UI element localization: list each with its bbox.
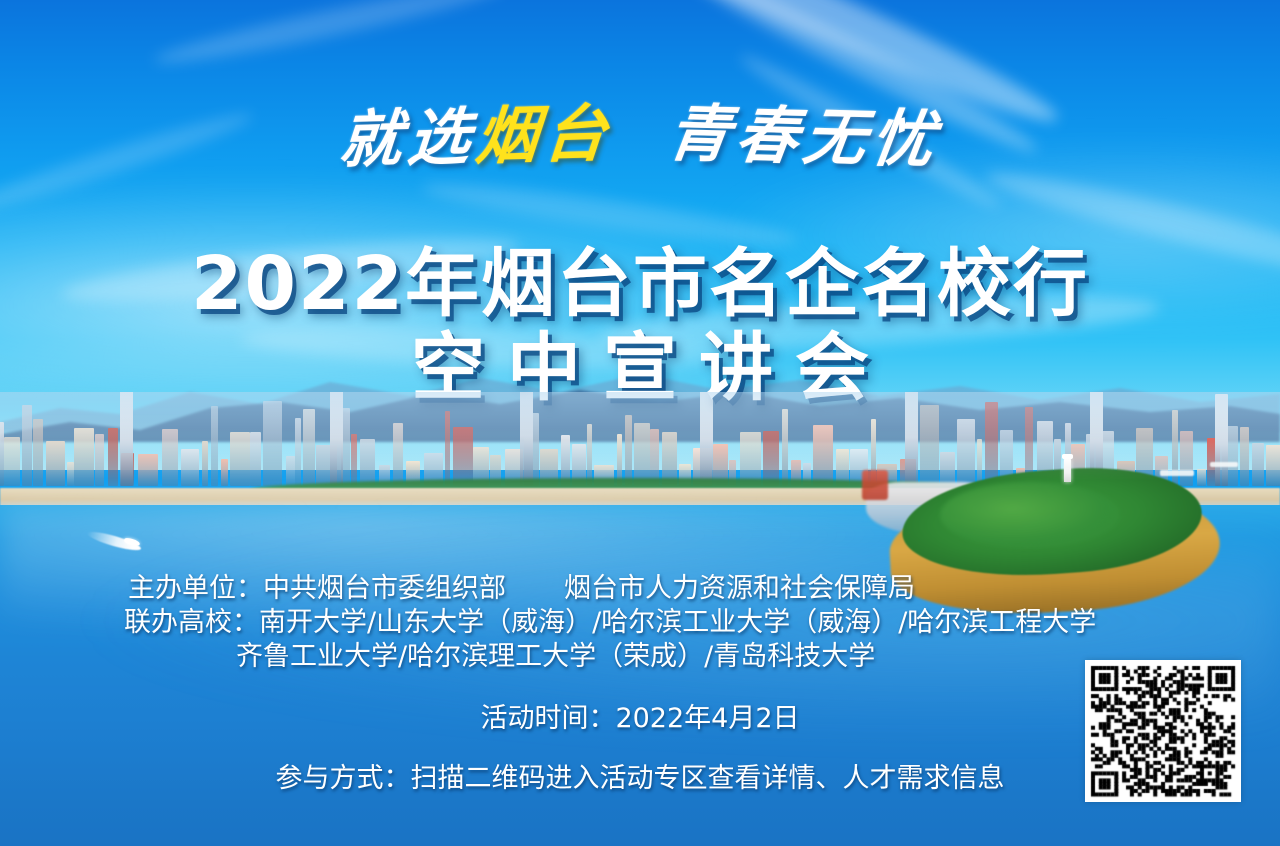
building [33, 419, 43, 486]
building [445, 411, 450, 486]
building [351, 434, 357, 486]
peninsula-headland [880, 430, 1280, 620]
landmark-tower [700, 392, 713, 486]
building [763, 431, 779, 486]
building [22, 405, 32, 486]
building [813, 425, 833, 486]
building [108, 428, 118, 486]
building [295, 418, 301, 486]
building [587, 424, 592, 486]
building [181, 449, 199, 486]
qr-code-canvas [1085, 660, 1241, 802]
building [221, 459, 228, 486]
building [263, 401, 282, 486]
building [95, 434, 104, 486]
building [211, 406, 218, 486]
building [393, 423, 403, 486]
building [202, 441, 208, 486]
landmark-tower [120, 392, 133, 486]
building [46, 441, 65, 486]
port-crane [862, 470, 888, 500]
building [360, 439, 375, 486]
building [625, 415, 632, 486]
landmark-tower [330, 392, 343, 486]
building [634, 423, 650, 486]
building [782, 409, 788, 486]
lighthouse-lantern [1062, 454, 1073, 459]
building [74, 428, 94, 486]
landmark-tower [520, 392, 533, 486]
building [162, 429, 178, 486]
building [67, 462, 74, 486]
forest-highlight [940, 482, 1120, 548]
building [4, 437, 20, 486]
building [303, 409, 315, 486]
lighthouse-icon [1064, 458, 1071, 482]
building [453, 427, 473, 486]
building [250, 432, 261, 486]
building [286, 456, 295, 486]
poster-image: 就选烟台 青春无忧 2022年烟台市名企名校行 空中宣讲会 主办单位：中共烟台市… [0, 0, 1280, 846]
cirrus-cloud [151, 0, 509, 73]
building [230, 432, 250, 486]
building [138, 454, 158, 486]
qr-code[interactable] [1085, 660, 1241, 802]
